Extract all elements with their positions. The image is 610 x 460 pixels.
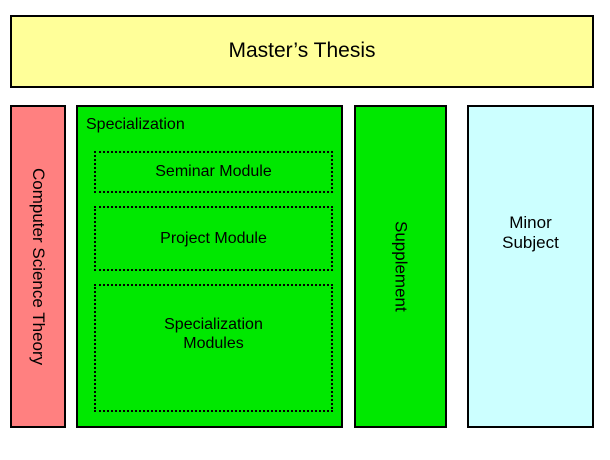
block-specialization-modules: Specialization Modules	[94, 284, 333, 412]
specialization-label: Specialization	[86, 116, 185, 134]
block-minor-subject: Minor Subject	[467, 105, 594, 428]
specialization-modules-label-line2: Modules	[164, 334, 263, 353]
block-seminar-module: Seminar Module	[94, 151, 333, 193]
block-masters-thesis: Master’s Thesis	[10, 15, 594, 88]
minor-subject-label: Minor Subject	[502, 213, 559, 252]
project-module-label: Project Module	[160, 229, 267, 248]
block-supplement: Supplement	[354, 105, 447, 428]
block-specialization: Specialization Seminar Module Project Mo…	[76, 105, 343, 428]
block-project-module: Project Module	[94, 206, 333, 271]
minor-subject-label-line1: Minor	[502, 213, 559, 233]
specialization-modules-label: Specialization Modules	[164, 315, 263, 353]
masters-thesis-label: Master’s Thesis	[228, 39, 375, 63]
minor-subject-label-line2: Subject	[502, 233, 559, 253]
program-structure-diagram: Master’s Thesis Computer Science Theory …	[0, 0, 610, 460]
specialization-modules-label-line1: Specialization	[164, 315, 263, 334]
computer-science-theory-label: Computer Science Theory	[28, 168, 48, 365]
block-computer-science-theory: Computer Science Theory	[10, 105, 66, 428]
seminar-module-label: Seminar Module	[155, 162, 272, 181]
supplement-label: Supplement	[391, 221, 411, 312]
